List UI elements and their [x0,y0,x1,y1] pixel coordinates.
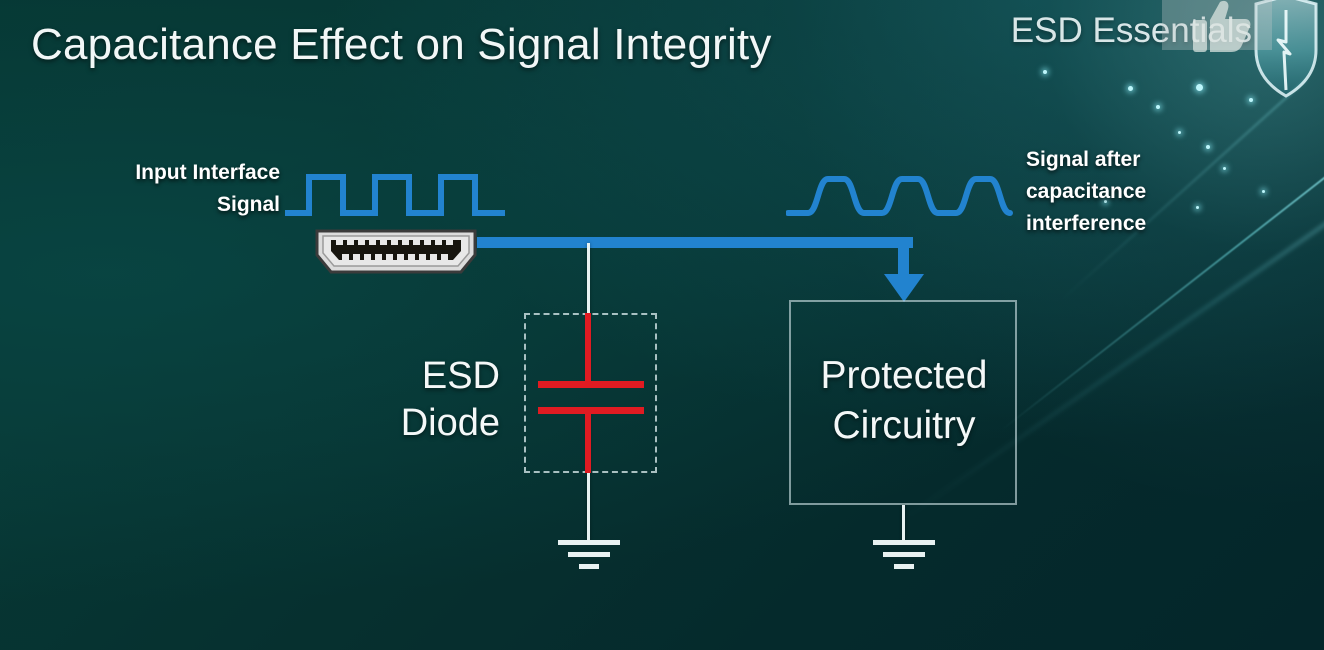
input-signal-label: Input Interface Signal [50,157,280,221]
esd-diode-label-line2: Diode [380,400,500,447]
output-waveform-icon [786,165,1014,225]
protected-circuitry-ground-wire [902,505,905,543]
hdmi-connector-icon [311,228,481,275]
particle-dot-icon [1156,105,1160,109]
slide-canvas: Capacitance Effect on Signal Integrity E… [0,0,1324,650]
ground-symbol-icon [873,540,935,574]
page-title: Capacitance Effect on Signal Integrity [31,20,772,70]
input-signal-label-line1: Input Interface [50,157,280,189]
light-streak-icon [1000,85,1324,431]
particle-dot-icon [1178,131,1181,134]
output-signal-label-line2: capacitance [1026,176,1296,208]
particle-dot-icon [1196,84,1203,91]
particle-dot-icon [1128,86,1133,91]
thumbs-up-icon [1192,0,1254,54]
output-signal-label-line3: interference [1026,208,1296,240]
input-waveform-icon [283,165,511,225]
output-signal-label-line1: Signal after [1026,144,1296,176]
capacitor-symbol-icon [524,313,657,473]
esd-diode-label: ESD Diode [380,353,500,447]
output-signal-label: Signal after capacitance interference [1026,144,1296,240]
signal-trace-horizontal [477,237,913,248]
protected-circuitry-label: Protected Circuitry [790,351,1018,451]
particle-dot-icon [1043,70,1047,74]
input-signal-label-line2: Signal [50,189,280,221]
ground-symbol-icon [558,540,620,574]
esd-diode-label-line1: ESD [380,353,500,400]
protected-circuitry-label-line2: Circuitry [790,401,1018,451]
protected-circuitry-label-line1: Protected [790,351,1018,401]
